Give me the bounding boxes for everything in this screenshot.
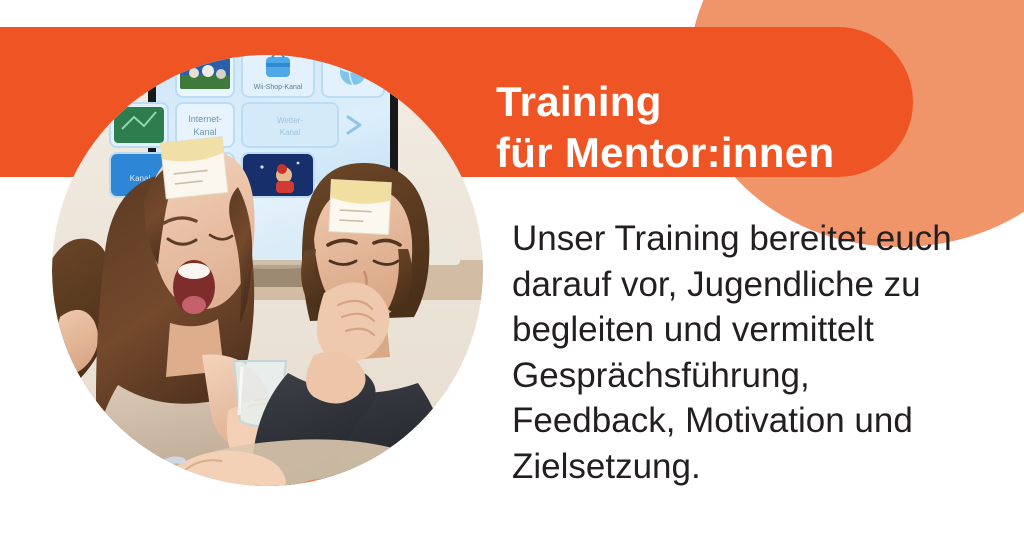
svg-text:Internet-: Internet-: [188, 114, 222, 124]
body-text: Unser Training bereitet euch darauf vor,…: [512, 216, 982, 489]
body-line-3: begleiten und vermittelt: [512, 307, 982, 353]
svg-text:Wetter-: Wetter-: [277, 116, 303, 125]
svg-text:Kanal: Kanal: [280, 128, 301, 137]
body-line-4: Gesprächsführung,: [512, 353, 982, 399]
headline-line-1: Training: [496, 76, 834, 127]
page-title: Training für Mentor:innen: [496, 76, 834, 178]
photo-illustration: Wii-Shop-Kanal Internet- Kanal Wetter- K…: [52, 55, 483, 486]
body-line-1: Unser Training bereitet euch: [512, 216, 982, 262]
photo-circle: Wii-Shop-Kanal Internet- Kanal Wetter- K…: [52, 55, 483, 486]
body-line-5: Feedback, Motivation und: [512, 398, 982, 444]
body-line-2: darauf vor, Jugendliche zu: [512, 262, 982, 308]
svg-text:Wii-Shop-Kanal: Wii-Shop-Kanal: [254, 84, 303, 91]
body-line-6: Zielsetzung.: [512, 444, 982, 490]
headline-line-2: für Mentor:innen: [496, 127, 834, 178]
svg-text:Kanal: Kanal: [193, 127, 216, 137]
promo-banner: Wii-Shop-Kanal Internet- Kanal Wetter- K…: [0, 0, 1024, 541]
